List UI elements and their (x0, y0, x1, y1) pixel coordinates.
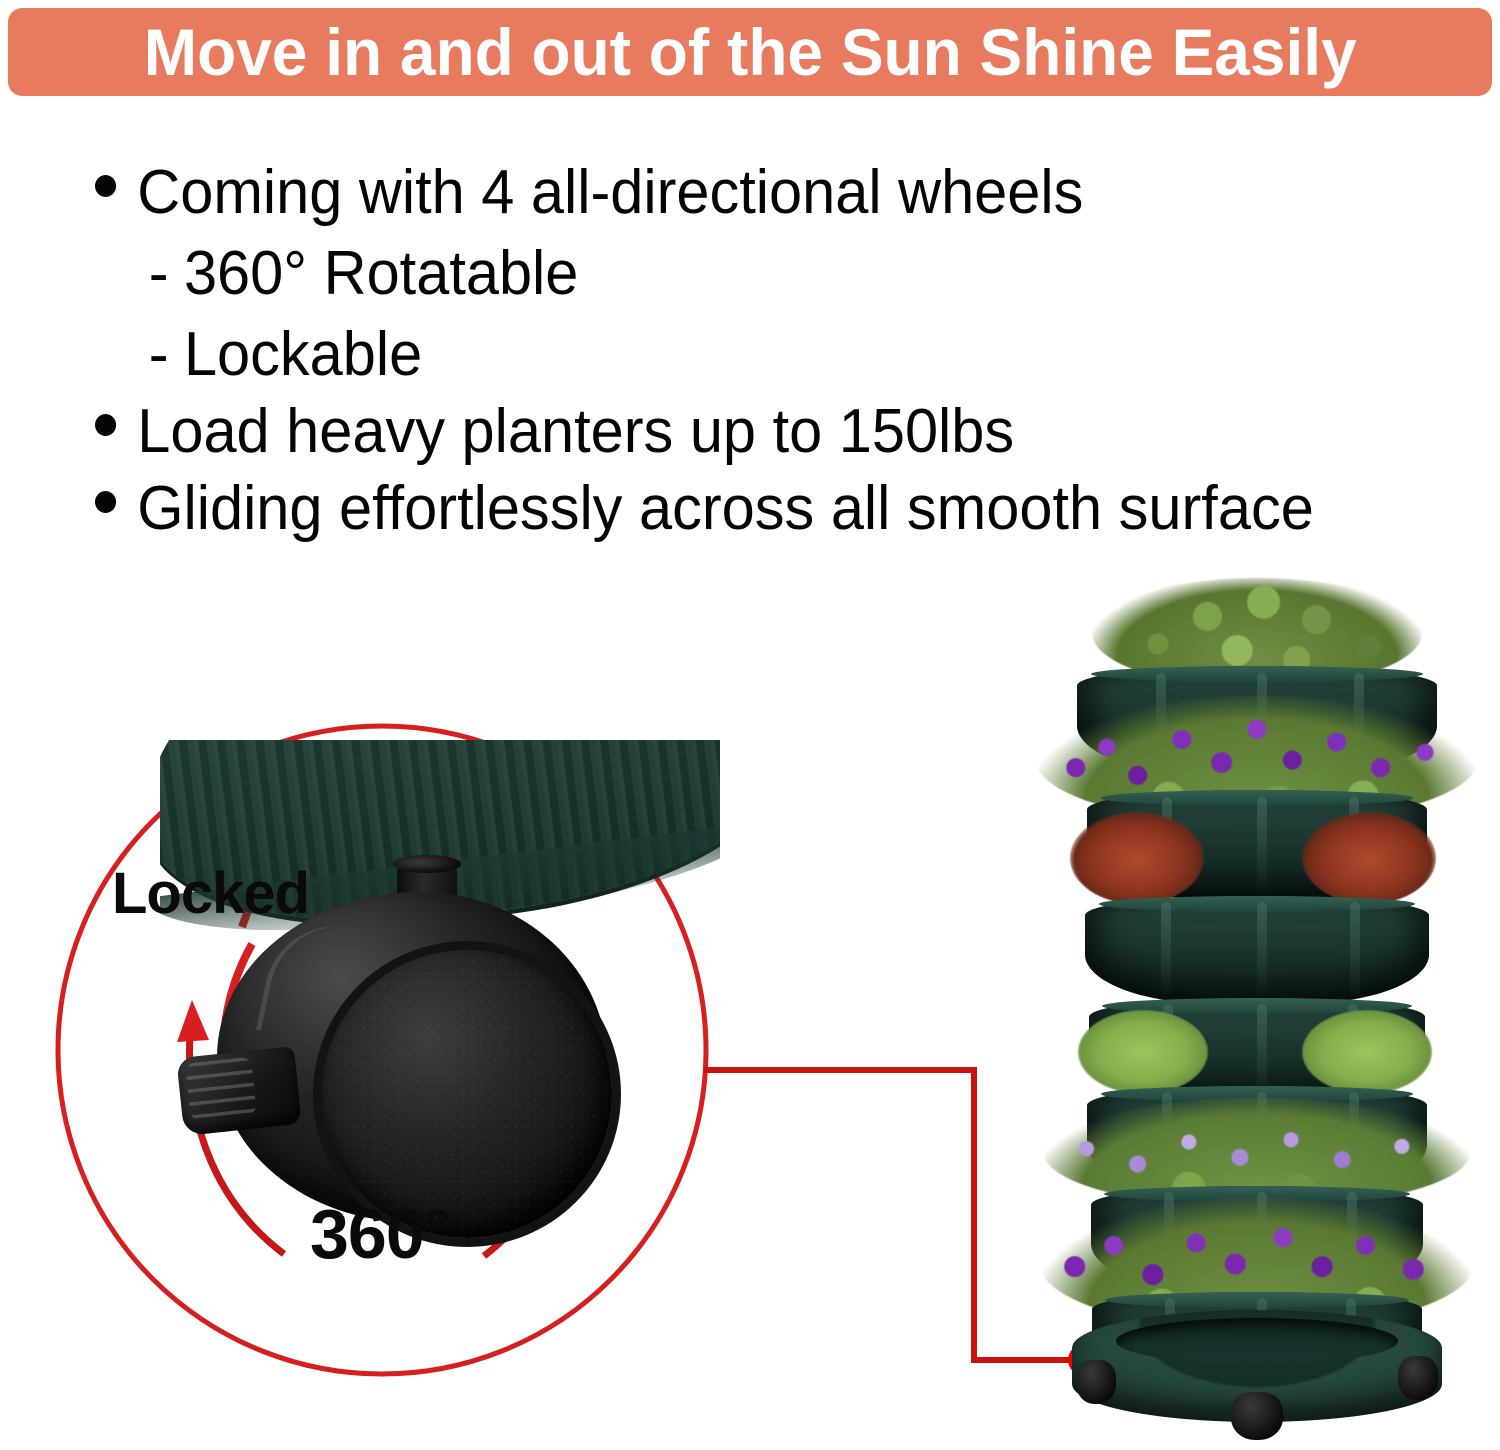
page-title: Move in and out of the Sun Shine Easily (144, 19, 1357, 85)
feature-label: Load heavy planters up to 150lbs (137, 399, 1014, 466)
feature-label: 360° Rotatable (184, 241, 578, 308)
feature-label: Lockable (184, 322, 422, 389)
rolling-caddy-base (1072, 1310, 1442, 1422)
feature-label: Coming with 4 all-directional wheels (137, 160, 1083, 227)
plant-tier-5b (1302, 1010, 1432, 1094)
locked-label: Locked (112, 860, 309, 927)
dash-icon: - (149, 241, 169, 308)
caddy-wheel-left (1076, 1360, 1116, 1404)
feature-subitem: - Lockable (95, 322, 1420, 389)
feature-subitem: - 360° Rotatable (95, 241, 1420, 308)
feature-item: Coming with 4 all-directional wheels (95, 160, 1420, 227)
bullet-icon (95, 175, 116, 197)
feature-list: Coming with 4 all-directional wheels - 3… (95, 150, 1475, 543)
plant-tier-3 (1070, 812, 1204, 904)
header-banner: Move in and out of the Sun Shine Easily (8, 8, 1492, 96)
product-image-planter-tower (1022, 578, 1492, 1450)
plant-tier-3b (1302, 812, 1436, 904)
feature-item: Gliding effortlessly across all smooth s… (95, 476, 1420, 543)
brake-lever-grip (185, 1057, 257, 1122)
plant-tier-5 (1078, 1010, 1208, 1094)
caster-callout: Locked 360° (52, 722, 712, 1378)
caddy-wheel-front (1231, 1392, 1283, 1440)
bullet-icon (95, 414, 116, 436)
rotation-label: 360° (310, 1194, 451, 1274)
caddy-wheel-right (1398, 1356, 1438, 1400)
dash-icon: - (149, 322, 169, 389)
feature-item: Load heavy planters up to 150lbs (95, 399, 1420, 466)
bullet-icon (95, 491, 116, 513)
feature-label: Gliding effortlessly across all smooth s… (137, 476, 1314, 543)
